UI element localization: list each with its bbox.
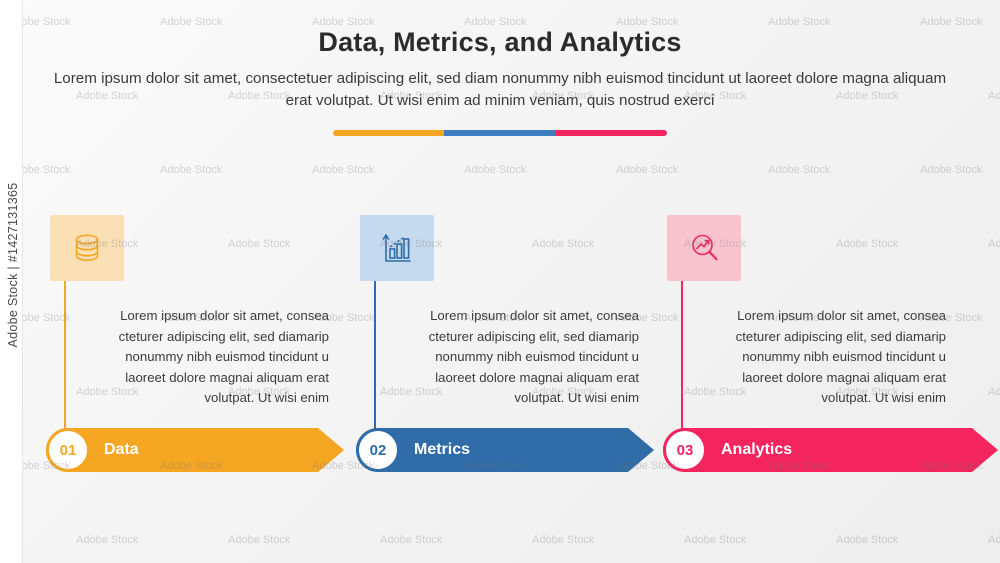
step-column-2: Lorem ipsum dolor sit amet, consea ctetu… — [313, 0, 633, 563]
step-description-1: Lorem ipsum dolor sit amet, consea ctetu… — [84, 306, 329, 409]
database-icon — [69, 230, 105, 266]
watermark-text: Adobe Stock — [988, 386, 1000, 398]
step-icon-box-1 — [50, 215, 124, 281]
step-description-3: Lorem ipsum dolor sit amet, consea ctetu… — [701, 306, 946, 409]
step-label-3: Analytics — [721, 428, 792, 472]
step-number-2: 02 — [370, 442, 387, 459]
step-label-2: Metrics — [414, 428, 470, 472]
step-number-1: 01 — [60, 442, 77, 459]
step-number-badge-3: 03 — [663, 428, 707, 472]
bar-chart-growth-icon — [379, 230, 415, 266]
step-connector-1 — [64, 281, 66, 433]
magnifier-analytics-icon — [686, 230, 722, 266]
step-icon-box-3 — [667, 215, 741, 281]
watermark-sidebar: Adobe Stock | #1427131365 — [0, 0, 23, 563]
step-number-badge-2: 02 — [356, 428, 400, 472]
step-column-1: Lorem ipsum dolor sit amet, consea ctetu… — [0, 0, 320, 563]
step-icon-box-2 — [360, 215, 434, 281]
watermark-text: Adobe Stock — [988, 534, 1000, 546]
watermark-text: Adobe Stock — [988, 90, 1000, 102]
step-number-badge-1: 01 — [46, 428, 90, 472]
step-label-1: Data — [104, 428, 139, 472]
infographic-canvas: Data, Metrics, and Analytics Lorem ipsum… — [0, 0, 1000, 563]
watermark-text: Adobe Stock — [988, 238, 1000, 250]
watermark-sidebar-text: Adobe Stock | #1427131365 — [6, 170, 20, 360]
step-number-3: 03 — [677, 442, 694, 459]
step-bar-1[interactable]: 01 Data — [46, 428, 344, 472]
step-connector-3 — [681, 281, 683, 433]
step-column-3: Lorem ipsum dolor sit amet, consea ctetu… — [626, 0, 946, 563]
step-bar-3[interactable]: 03 Analytics — [663, 428, 998, 472]
step-bar-2[interactable]: 02 Metrics — [356, 428, 654, 472]
step-connector-2 — [374, 281, 376, 433]
step-description-2: Lorem ipsum dolor sit amet, consea ctetu… — [394, 306, 639, 409]
